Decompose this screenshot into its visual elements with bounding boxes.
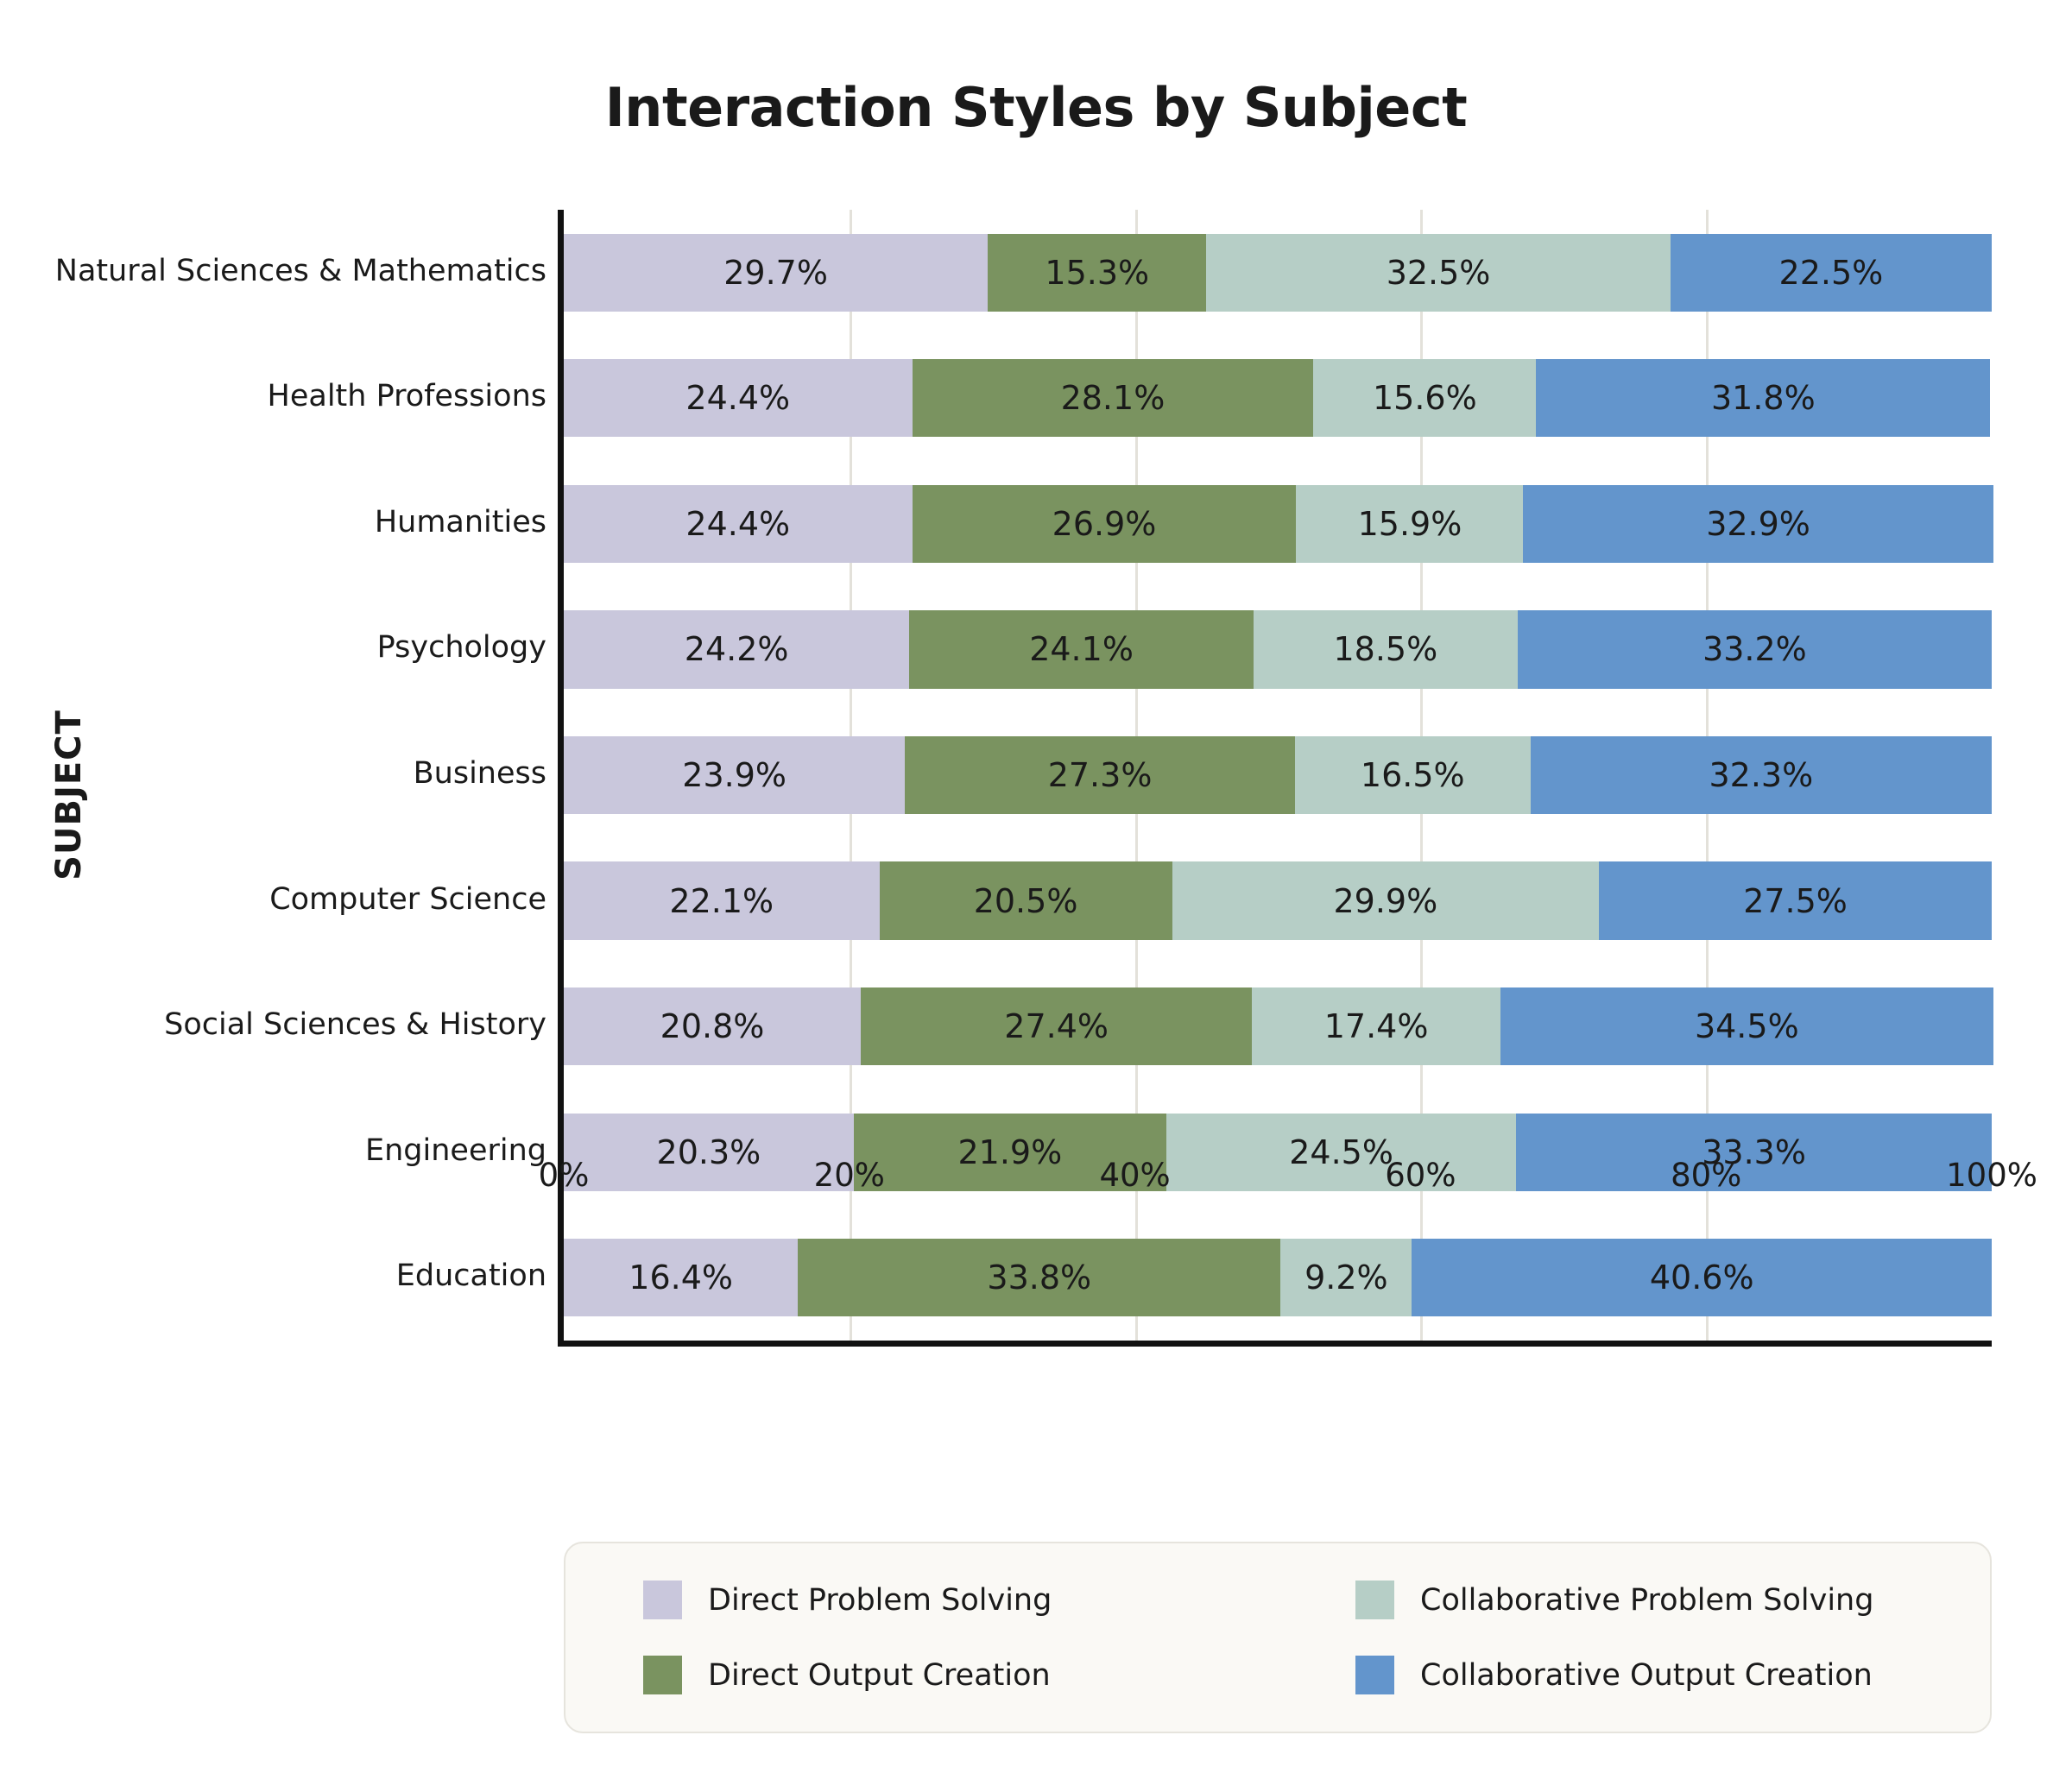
legend-item[interactable]: Direct Output Creation (565, 1656, 1278, 1694)
legend-item-label: Direct Problem Solving (708, 1583, 1052, 1618)
bar-segment[interactable]: 28.1% (913, 359, 1314, 437)
bar-segment-value: 29.9% (1334, 882, 1438, 920)
bar-segment[interactable]: 15.3% (988, 234, 1206, 312)
legend-color-swatch (643, 1581, 682, 1619)
bar-segment[interactable]: 27.3% (905, 736, 1295, 814)
bar-segment-value: 27.4% (1004, 1007, 1109, 1045)
bar-segment[interactable]: 24.1% (909, 610, 1254, 688)
bar-segment-value: 32.3% (1709, 756, 1813, 794)
bar-segment[interactable]: 16.5% (1295, 736, 1531, 814)
bar-row[interactable]: Engineering20.3%21.9%24.5%33.3% (564, 1114, 1992, 1191)
bar-segment[interactable]: 23.9% (564, 736, 905, 814)
legend-item-label: Direct Output Creation (708, 1658, 1051, 1693)
bar-segment-value: 16.5% (1361, 756, 1465, 794)
x-axis-tick-label: 100% (1946, 1157, 2037, 1194)
bar-segment-value: 32.5% (1387, 254, 1491, 292)
bar-row[interactable]: Psychology24.2%24.1%18.5%33.2% (564, 610, 1992, 688)
bar-segment-value: 31.8% (1711, 379, 1816, 417)
y-axis-tick-label: Engineering (28, 1133, 546, 1168)
bar-segment[interactable]: 22.1% (564, 861, 880, 939)
bar-segment[interactable]: 20.5% (880, 861, 1172, 939)
bar-segment[interactable]: 24.2% (564, 610, 909, 688)
legend-item-label: Collaborative Problem Solving (1420, 1583, 1873, 1618)
bar-segment[interactable]: 33.2% (1518, 610, 1992, 688)
bar-segment[interactable]: 15.6% (1313, 359, 1536, 437)
legend-item[interactable]: Collaborative Output Creation (1278, 1656, 1990, 1694)
bar-segment[interactable]: 33.8% (798, 1239, 1280, 1316)
bar-row[interactable]: Business23.9%27.3%16.5%32.3% (564, 736, 1992, 814)
bar-segment[interactable]: 27.5% (1599, 861, 1992, 939)
plot-area: Natural Sciences & Mathematics29.7%15.3%… (564, 210, 1992, 1341)
bar-segment[interactable]: 31.8% (1536, 359, 1990, 437)
bar-segment[interactable]: 24.5% (1166, 1114, 1516, 1191)
chart-page: Interaction Styles by Subject SUBJECT Na… (0, 0, 2072, 1773)
bar-segment-value: 33.8% (987, 1259, 1091, 1297)
legend-item[interactable]: Collaborative Problem Solving (1278, 1581, 1990, 1619)
bar-segment[interactable]: 22.5% (1671, 234, 1992, 312)
bar-segment-value: 24.1% (1029, 630, 1134, 668)
bar-segment[interactable]: 24.4% (564, 485, 913, 563)
bar-segment-value: 15.9% (1358, 505, 1462, 543)
x-axis-tick-label: 20% (814, 1157, 885, 1194)
bar-segment[interactable]: 17.4% (1252, 987, 1500, 1065)
y-axis-tick-label: Social Sciences & History (28, 1007, 546, 1042)
bar-segment[interactable]: 26.9% (913, 485, 1297, 563)
bar-segment[interactable]: 32.5% (1206, 234, 1671, 312)
bar-segment[interactable]: 32.9% (1523, 485, 1993, 563)
bar-segment-value: 29.7% (723, 254, 828, 292)
bar-segment-value: 24.2% (685, 630, 789, 668)
bar-row[interactable]: Natural Sciences & Mathematics29.7%15.3%… (564, 234, 1992, 312)
bar-segment-value: 15.6% (1373, 379, 1477, 417)
bar-row[interactable]: Health Professions24.4%28.1%15.6%31.8% (564, 359, 1992, 437)
bar-segment-value: 15.3% (1045, 254, 1149, 292)
y-axis-tick-label: Health Professions (28, 379, 546, 413)
bar-segment-value: 24.4% (685, 379, 790, 417)
legend-item-label: Collaborative Output Creation (1420, 1658, 1873, 1693)
x-axis-tick-label: 0% (539, 1157, 590, 1194)
bar-segment-value: 20.5% (974, 882, 1078, 920)
bar-segment[interactable]: 29.7% (564, 234, 988, 312)
x-axis-tick-label: 60% (1385, 1157, 1456, 1194)
legend-color-swatch (1355, 1581, 1394, 1619)
legend-item[interactable]: Direct Problem Solving (565, 1581, 1278, 1619)
bar-segment-value: 27.5% (1743, 882, 1848, 920)
bar-segment-value: 20.8% (660, 1007, 765, 1045)
bar-segment-value: 40.6% (1650, 1259, 1754, 1297)
bar-segment[interactable]: 24.4% (564, 359, 913, 437)
bar-segment[interactable]: 9.2% (1280, 1239, 1412, 1316)
bar-segment-value: 22.1% (669, 882, 774, 920)
bar-segment-value: 16.4% (629, 1259, 733, 1297)
bar-segment-value: 24.5% (1289, 1133, 1393, 1171)
bar-segment-value: 24.4% (685, 505, 790, 543)
legend-color-swatch (1355, 1656, 1394, 1694)
bar-segment-value: 32.9% (1706, 505, 1810, 543)
bar-segment-value: 20.3% (657, 1133, 761, 1171)
y-axis-tick-label: Computer Science (28, 882, 546, 917)
y-axis-tick-label: Education (28, 1259, 546, 1293)
bar-row[interactable]: Humanities24.4%26.9%15.9%32.9% (564, 485, 1992, 563)
bar-segment[interactable]: 20.8% (564, 987, 861, 1065)
y-axis-tick-label: Psychology (28, 630, 546, 665)
bar-segment[interactable]: 18.5% (1254, 610, 1518, 688)
bar-segment-value: 18.5% (1334, 630, 1438, 668)
bar-segment[interactable]: 33.3% (1516, 1114, 1992, 1191)
bar-segment-value: 27.3% (1048, 756, 1153, 794)
bar-segment-value: 34.5% (1695, 1007, 1799, 1045)
bar-segment-value: 23.9% (682, 756, 786, 794)
bar-segment[interactable]: 20.3% (564, 1114, 854, 1191)
bar-row[interactable]: Computer Science22.1%20.5%29.9%27.5% (564, 861, 1992, 939)
legend-color-swatch (643, 1656, 682, 1694)
bar-segment[interactable]: 16.4% (564, 1239, 798, 1316)
bar-segment[interactable]: 34.5% (1500, 987, 1993, 1065)
bar-segment[interactable]: 32.3% (1531, 736, 1992, 814)
bar-segment-value: 28.1% (1061, 379, 1165, 417)
bar-segment[interactable]: 40.6% (1412, 1239, 1992, 1316)
bar-segment[interactable]: 15.9% (1296, 485, 1523, 563)
y-axis-tick-label: Humanities (28, 505, 546, 539)
bar-segment-value: 21.9% (958, 1133, 1063, 1171)
bar-segment-value: 26.9% (1052, 505, 1157, 543)
bar-segment[interactable]: 27.4% (861, 987, 1252, 1065)
x-axis-tick-label: 80% (1671, 1157, 1741, 1194)
bar-row[interactable]: Social Sciences & History20.8%27.4%17.4%… (564, 987, 1992, 1065)
x-axis-tick-label: 40% (1099, 1157, 1170, 1194)
bar-segment-value: 17.4% (1324, 1007, 1429, 1045)
y-axis-tick-label: Business (28, 756, 546, 791)
bar-segment-value: 22.5% (1779, 254, 1884, 292)
y-axis-tick-label: Natural Sciences & Mathematics (28, 254, 546, 288)
bar-segment[interactable]: 29.9% (1172, 861, 1600, 939)
x-axis-line (558, 1341, 1992, 1347)
bar-row[interactable]: Education16.4%33.8%9.2%40.6% (564, 1239, 1992, 1316)
page-title: Interaction Styles by Subject (0, 76, 2072, 139)
chart-legend: Direct Problem SolvingCollaborative Prob… (564, 1542, 1992, 1733)
bar-segment-value: 33.2% (1702, 630, 1807, 668)
bar-segment-value: 9.2% (1304, 1259, 1388, 1297)
